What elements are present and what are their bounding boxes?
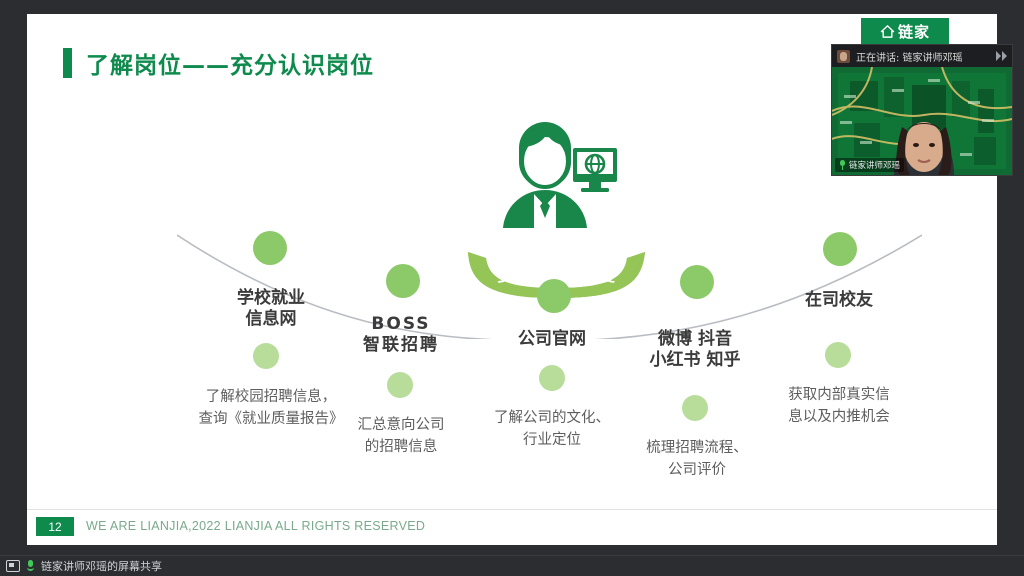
page-title: 了解岗位——充分认识岗位 bbox=[63, 46, 374, 80]
house-icon bbox=[880, 24, 895, 39]
channel-label: BOSS 智联招聘 bbox=[350, 314, 452, 357]
channel-dot-small bbox=[825, 342, 851, 368]
channel-description: 梳理招聘流程、 公司评价 bbox=[632, 437, 762, 482]
channel-dot-large bbox=[253, 231, 287, 265]
share-status-text: 链家讲师邓瑶的屏幕共享 bbox=[41, 558, 162, 574]
channel-description: 汇总意向公司 的招聘信息 bbox=[336, 414, 466, 459]
speaker-avatar-icon bbox=[837, 50, 850, 63]
logo-text: 链家 bbox=[898, 21, 930, 42]
share-status-taskbar: 链家讲师邓瑶的屏幕共享 bbox=[0, 555, 1024, 576]
channel-dot-small bbox=[253, 343, 279, 369]
channel-label: 微博 抖音 小红书 知乎 bbox=[626, 329, 764, 372]
channel-dot-large bbox=[823, 232, 857, 266]
screen-share-icon[interactable] bbox=[6, 560, 20, 572]
mic-icon bbox=[839, 160, 846, 170]
participant-video-panel[interactable]: 链家讲师邓瑶 正在讲话: 链家讲师邓瑶 bbox=[831, 44, 1013, 176]
channel-description: 获取内部真实信 息以及内推机会 bbox=[763, 384, 915, 429]
channel-dot-large bbox=[680, 265, 714, 299]
participant-name: 链家讲师邓瑶 bbox=[849, 159, 900, 171]
channel-description: 了解公司的文化、 行业定位 bbox=[482, 407, 622, 452]
participant-name-badge: 链家讲师邓瑶 bbox=[835, 158, 904, 172]
person-with-monitor-icon bbox=[489, 118, 619, 238]
title-text: 了解岗位——充分认识岗位 bbox=[86, 46, 374, 80]
active-speaker-label: 正在讲话: 链家讲师邓瑶 bbox=[856, 49, 963, 64]
channel-dot-large bbox=[386, 264, 420, 298]
channel-dot-small bbox=[387, 372, 413, 398]
copyright-text: WE ARE LIANJIA,2022 LIANJIA ALL RIGHTS R… bbox=[86, 519, 425, 533]
lianjia-logo: 链家 bbox=[861, 18, 949, 45]
screen-share-window: 了解岗位——充分认识岗位 bbox=[0, 0, 1024, 576]
channel-dot-small bbox=[682, 395, 708, 421]
active-speaker-bar[interactable]: 正在讲话: 链家讲师邓瑶 bbox=[832, 45, 1012, 67]
page-number: 12 bbox=[36, 517, 74, 536]
channel-dot-large bbox=[537, 279, 571, 313]
channel-label: 学校就业 信息网 bbox=[223, 288, 319, 331]
channel-label: 在司校友 bbox=[781, 290, 897, 311]
title-accent-bar bbox=[63, 48, 72, 78]
webcam-feed: 链家讲师邓瑶 bbox=[832, 67, 1012, 175]
chevron-right-icon[interactable] bbox=[996, 51, 1007, 61]
mic-icon[interactable] bbox=[26, 560, 35, 572]
channel-label: 公司官网 bbox=[501, 329, 603, 350]
footer-divider bbox=[27, 509, 997, 510]
channel-dot-small bbox=[539, 365, 565, 391]
